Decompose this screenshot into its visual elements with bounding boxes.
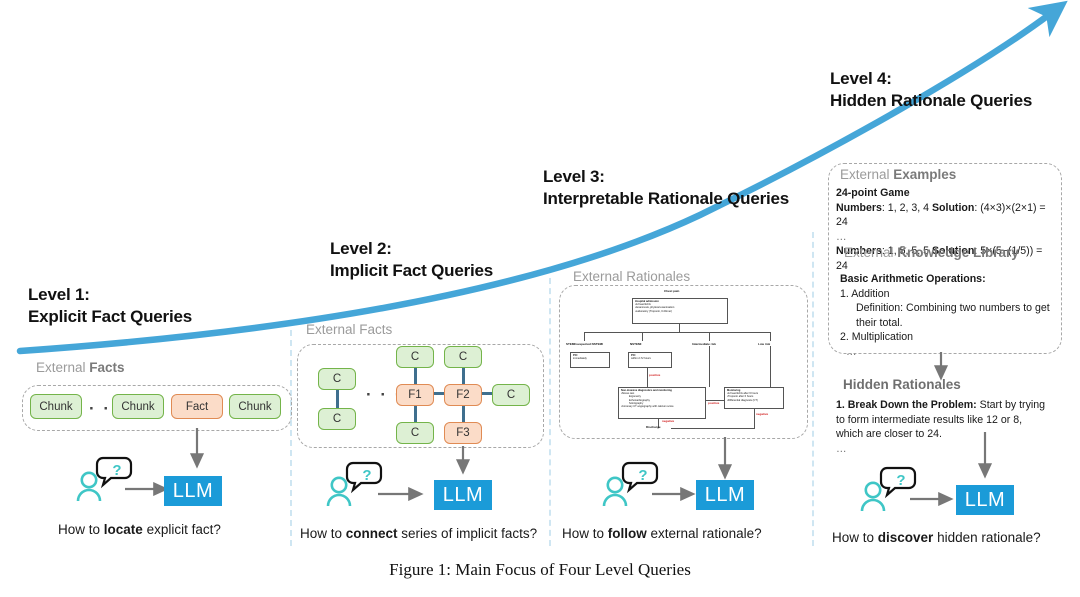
flowchart-noninvasive-box: Non-invasive diagnostics and monitoring … <box>618 387 706 419</box>
level-1-section-label-plain: External <box>36 360 89 375</box>
level-1-question: How to locate explicit fact? <box>58 522 221 537</box>
flowchart-pci-delayed-sub: within 2-72 hours <box>631 357 669 360</box>
divider-level2-level3 <box>549 278 551 546</box>
level-1-arrow-down-icon <box>180 428 214 474</box>
level-4-example-1-numbers: : 1, 2, 3, 4 <box>882 202 932 214</box>
flowchart-admission-line-3: •Laboratory (Troponin, D-Dimer) <box>635 310 725 313</box>
level-4-arrow-down-icon-bottom <box>968 432 1002 484</box>
level-4-person-icon: ? <box>856 465 918 513</box>
level-1-fact[interactable]: Fact <box>171 394 223 419</box>
level-4-examples-ellipsis: … <box>836 230 1054 245</box>
svg-text:?: ? <box>112 462 121 479</box>
level-3-question-prefix: How to <box>562 526 608 541</box>
flowchart-pci-immediate-box: PCI immediately <box>570 352 610 368</box>
level-2-node-c-right-top[interactable]: C <box>444 346 482 368</box>
level-2-person-icon: ? <box>322 460 384 508</box>
level-2-node-label: C <box>411 351 419 363</box>
flowchart-line-discharge-bus <box>671 428 755 429</box>
level-4-llm-box[interactable]: LLM <box>956 485 1014 515</box>
level-1-chunk-3-label: Chunk <box>238 401 271 413</box>
flowchart-admission-box: Hospital admission •12 lead ECG •Anamnes… <box>632 298 728 324</box>
level-4-hidden-rationales-body: 1. Break Down the Problem: Start by tryi… <box>836 398 1050 456</box>
flowchart-bus <box>584 332 770 333</box>
level-4-knowledge-item-1-definition: Definition: Combining two numbers to get… <box>840 301 1052 330</box>
level-4-knowledge-item-1: 1. Addition <box>840 287 1052 302</box>
level-1-llm-label: LLM <box>173 480 213 503</box>
flowchart-line-intermediate <box>709 346 710 387</box>
flowchart-branch-4 <box>770 332 771 341</box>
level-1-llm-box[interactable]: LLM <box>164 476 222 506</box>
level-4-game-title: 24-point Game <box>836 187 910 199</box>
level-2-node-f2[interactable]: F2 <box>444 384 482 406</box>
level-2-llm-box[interactable]: LLM <box>434 480 492 510</box>
flowchart-edge-negative-2: negative <box>756 412 768 416</box>
level-1-section-label: External Facts <box>36 360 125 375</box>
flowchart-discharge-label: Discharge <box>646 425 661 429</box>
level-2-title: Level 2: Implicit Fact Queries <box>330 238 493 282</box>
level-4-knowledge-label-bold: Knowledge Library <box>897 245 1019 260</box>
flowchart-branch-label-1: STEMI/suspected NSTEMI <box>566 342 603 346</box>
level-2-title-line2: Implicit Fact Queries <box>330 260 493 282</box>
flowchart-root-label: Chest pain <box>664 289 679 293</box>
level-4-hidden-item-1-bold: 1. Break Down the Problem: <box>836 399 977 411</box>
level-3-question: How to follow external rationale? <box>562 526 762 541</box>
level-4-knowledge-label: External Knowledge Library <box>844 245 1019 260</box>
level-4-knowledge-label-plain: External <box>844 245 897 260</box>
level-2-node-c-left-top[interactable]: C <box>318 368 356 390</box>
flowchart-branch-3 <box>709 332 710 341</box>
level-2-title-line1: Level 2: <box>330 238 493 260</box>
level-1-chunk-1[interactable]: Chunk <box>30 394 82 419</box>
level-3-arrow-down-icon <box>708 437 742 485</box>
level-4-title-line2: Hidden Rationale Queries <box>830 90 1032 112</box>
level-2-llm-label: LLM <box>443 484 483 507</box>
level-2-node-label: C <box>333 413 341 425</box>
level-1-fact-label: Fact <box>186 401 208 413</box>
level-4-hidden-rationales-label: Hidden Rationales <box>843 377 961 392</box>
level-2-node-label: C <box>459 351 467 363</box>
level-4-knowledge-heading: Basic Arithmetic Operations: <box>840 273 986 285</box>
level-3-title-line1: Level 3: <box>543 166 789 188</box>
level-2-node-label: F1 <box>408 389 421 401</box>
level-2-arrow-right-icon <box>378 487 428 501</box>
level-4-question: How to discover hidden rationale? <box>832 530 1041 545</box>
level-4-knowledge-body: Basic Arithmetic Operations: 1. Addition… <box>840 272 1052 360</box>
level-4-knowledge-item-2: 2. Multiplication <box>840 330 1052 345</box>
level-1-chunk-2-label: Chunk <box>121 401 154 413</box>
level-2-node-c-mid-bottom[interactable]: C <box>396 422 434 444</box>
level-3-llm-box[interactable]: LLM <box>696 480 754 510</box>
flowchart-branch-label-3: Intermediate risk <box>692 342 716 346</box>
level-4-question-suffix: hidden rationale? <box>933 530 1040 545</box>
flowchart-branch-2 <box>642 332 643 341</box>
level-1-question-suffix: explicit fact? <box>143 522 221 537</box>
level-4-hidden-ellipsis: … <box>836 442 1050 457</box>
level-2-node-label: F2 <box>456 389 469 401</box>
flowchart-edge-positive-2: positive <box>708 401 719 405</box>
level-1-chunk-3[interactable]: Chunk <box>229 394 281 419</box>
level-4-title-line1: Level 4: <box>830 68 1032 90</box>
level-3-question-bold: follow <box>608 526 647 541</box>
level-4-example-1-solution-label: Solution <box>932 202 974 214</box>
level-1-section-label-bold: Facts <box>89 360 124 375</box>
level-2-question-bold: connect <box>346 526 398 541</box>
flowchart-pci-delayed-box: PCI within 2-72 hours <box>628 352 672 368</box>
figure-caption: Figure 1: Main Focus of Four Level Queri… <box>0 560 1080 580</box>
level-2-question-prefix: How to <box>300 526 346 541</box>
level-1-title: Level 1: Explicit Fact Queries <box>28 284 192 328</box>
level-2-question: How to connect series of implicit facts? <box>300 526 537 541</box>
level-3-arrow-right-icon <box>652 487 700 501</box>
divider-level1-level2 <box>290 330 292 546</box>
level-2-node-f1[interactable]: F1 <box>396 384 434 406</box>
flowchart-pci-immediate-sub: immediately <box>573 357 607 360</box>
level-3-title: Level 3: Interpretable Rationale Queries <box>543 166 789 210</box>
level-4-examples-label-plain: External <box>840 167 893 182</box>
flowchart-branch-label-2: NSTEMI <box>630 342 641 346</box>
level-1-chunk-1-label: Chunk <box>39 401 72 413</box>
level-4-arrow-right-icon <box>910 492 958 506</box>
level-4-hidden-rationales-text: Hidden Rationales <box>843 377 961 392</box>
flowchart-edge-negative-1: negative <box>662 419 674 423</box>
flowchart-trunk <box>679 324 680 332</box>
level-4-example-1-numbers-label: Numbers <box>836 202 882 214</box>
level-3-person-icon: ? <box>598 460 660 508</box>
flowchart-branch-label-4: Low risk <box>758 342 770 346</box>
flowchart-edge-positive-1: positive <box>649 373 660 377</box>
level-2-section-label: External Facts <box>306 322 392 337</box>
level-2-edge-left <box>336 388 339 410</box>
level-1-title-line1: Level 1: <box>28 284 192 306</box>
level-1-title-line2: Explicit Fact Queries <box>28 306 192 328</box>
svg-text:?: ? <box>896 472 905 489</box>
level-1-question-prefix: How to <box>58 522 104 537</box>
level-4-question-prefix: How to <box>832 530 878 545</box>
svg-text:?: ? <box>362 467 371 484</box>
flowchart-monitoring-box: Monitoring •12 lead ECG after 6 hours •T… <box>724 387 784 409</box>
level-2-node-label: C <box>333 373 341 385</box>
level-2-section-label-text: External Facts <box>306 322 392 337</box>
level-3-llm-label: LLM <box>705 484 745 507</box>
level-2-arrow-down-icon <box>446 446 480 480</box>
level-1-question-bold: locate <box>104 522 143 537</box>
level-2-node-label: C <box>411 427 419 439</box>
flowchart-line-discharge-right <box>754 409 755 428</box>
svg-text:?: ? <box>638 467 647 484</box>
level-2-node-label: C <box>507 389 515 401</box>
flowchart-noninvasive-line-5: •Coronary CT angiography with calcium sc… <box>621 405 703 408</box>
level-4-examples-label-bold: Examples <box>893 167 956 182</box>
level-4-question-bold: discover <box>878 530 934 545</box>
level-4-example-line-1: Numbers: 1, 2, 3, 4 Solution: (4×3)×(2×1… <box>836 201 1054 230</box>
level-2-question-suffix: series of implicit facts? <box>398 526 538 541</box>
level-4-examples-label: External Examples <box>840 167 956 182</box>
level-2-node-label: F3 <box>456 427 469 439</box>
flowchart-line-lowrisk <box>770 346 771 387</box>
divider-level3-level4 <box>812 232 814 546</box>
level-4-llm-label: LLM <box>965 489 1005 512</box>
flowchart-line-positive-up <box>647 368 648 387</box>
level-3-question-suffix: external rationale? <box>647 526 762 541</box>
level-2-node-c-left-bottom[interactable]: C <box>318 408 356 430</box>
flowchart-branch-1 <box>584 332 585 341</box>
flowchart-monitoring-line-3: •Differential diagnosis (CT) <box>727 399 781 402</box>
level-3-section-label: External Rationales <box>573 269 690 284</box>
level-2-node-c-far-right[interactable]: C <box>492 384 530 406</box>
level-4-title: Level 4: Hidden Rationale Queries <box>830 68 1032 112</box>
level-2-node-f3[interactable]: F3 <box>444 422 482 444</box>
figure-canvas: Level 1: Explicit Fact Queries External … <box>0 0 1080 597</box>
level-3-section-label-text: External Rationales <box>573 269 690 284</box>
level-3-title-line2: Interpretable Rationale Queries <box>543 188 789 210</box>
level-2-node-c-mid-top[interactable]: C <box>396 346 434 368</box>
level-1-chunk-2[interactable]: Chunk <box>112 394 164 419</box>
level-4-examples-body: 24-point Game Numbers: 1, 2, 3, 4 Soluti… <box>836 186 1054 274</box>
level-3-clinical-flowchart: Chest pain Hospital admission •12 lead E… <box>566 288 798 432</box>
level-4-hidden-item-1: 1. Break Down the Problem: Start by tryi… <box>836 398 1050 442</box>
